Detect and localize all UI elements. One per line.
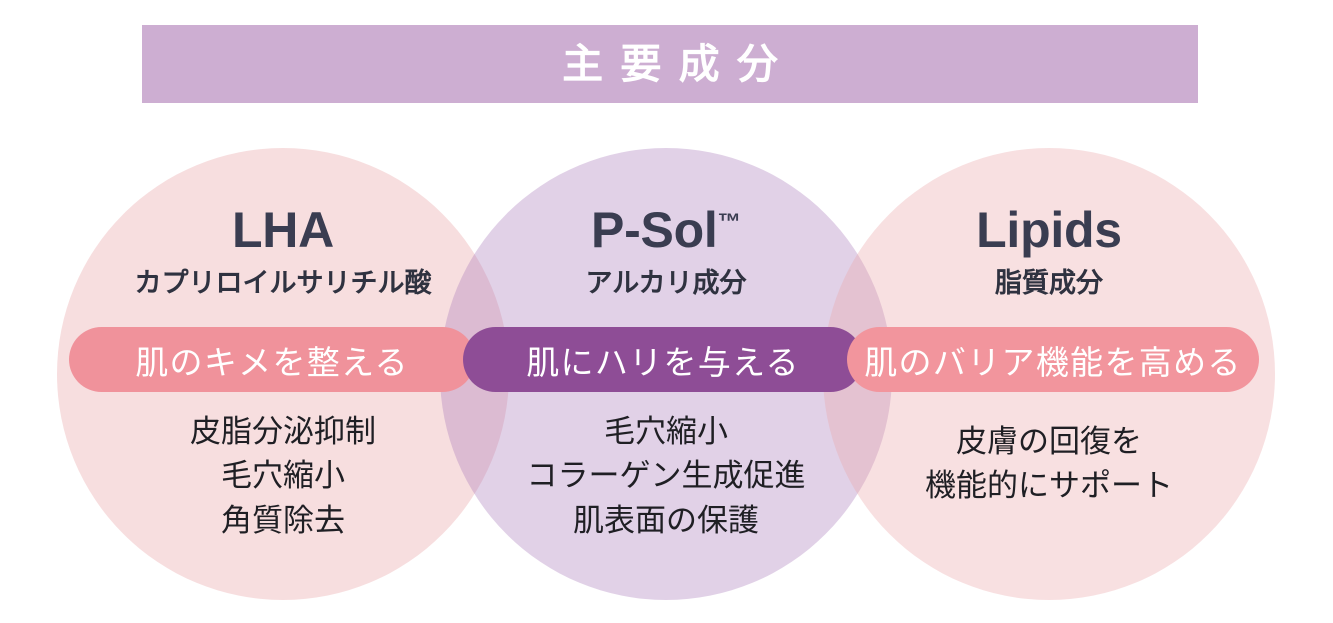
page-title: 主要成分 bbox=[545, 44, 795, 85]
title-banner: 主要成分 bbox=[142, 25, 1198, 103]
infographic-canvas: 主要成分 LHA カプリロイルサリチル酸 肌のキメを整える 皮脂分泌抑制 毛穴縮… bbox=[0, 0, 1333, 623]
benefit-pill-p-sol[interactable]: 肌にハリを与える bbox=[463, 327, 863, 392]
benefit-pill-lha[interactable]: 肌のキメを整える bbox=[69, 327, 475, 392]
benefit-pill-lipids[interactable]: 肌のバリア機能を高める bbox=[847, 327, 1259, 392]
